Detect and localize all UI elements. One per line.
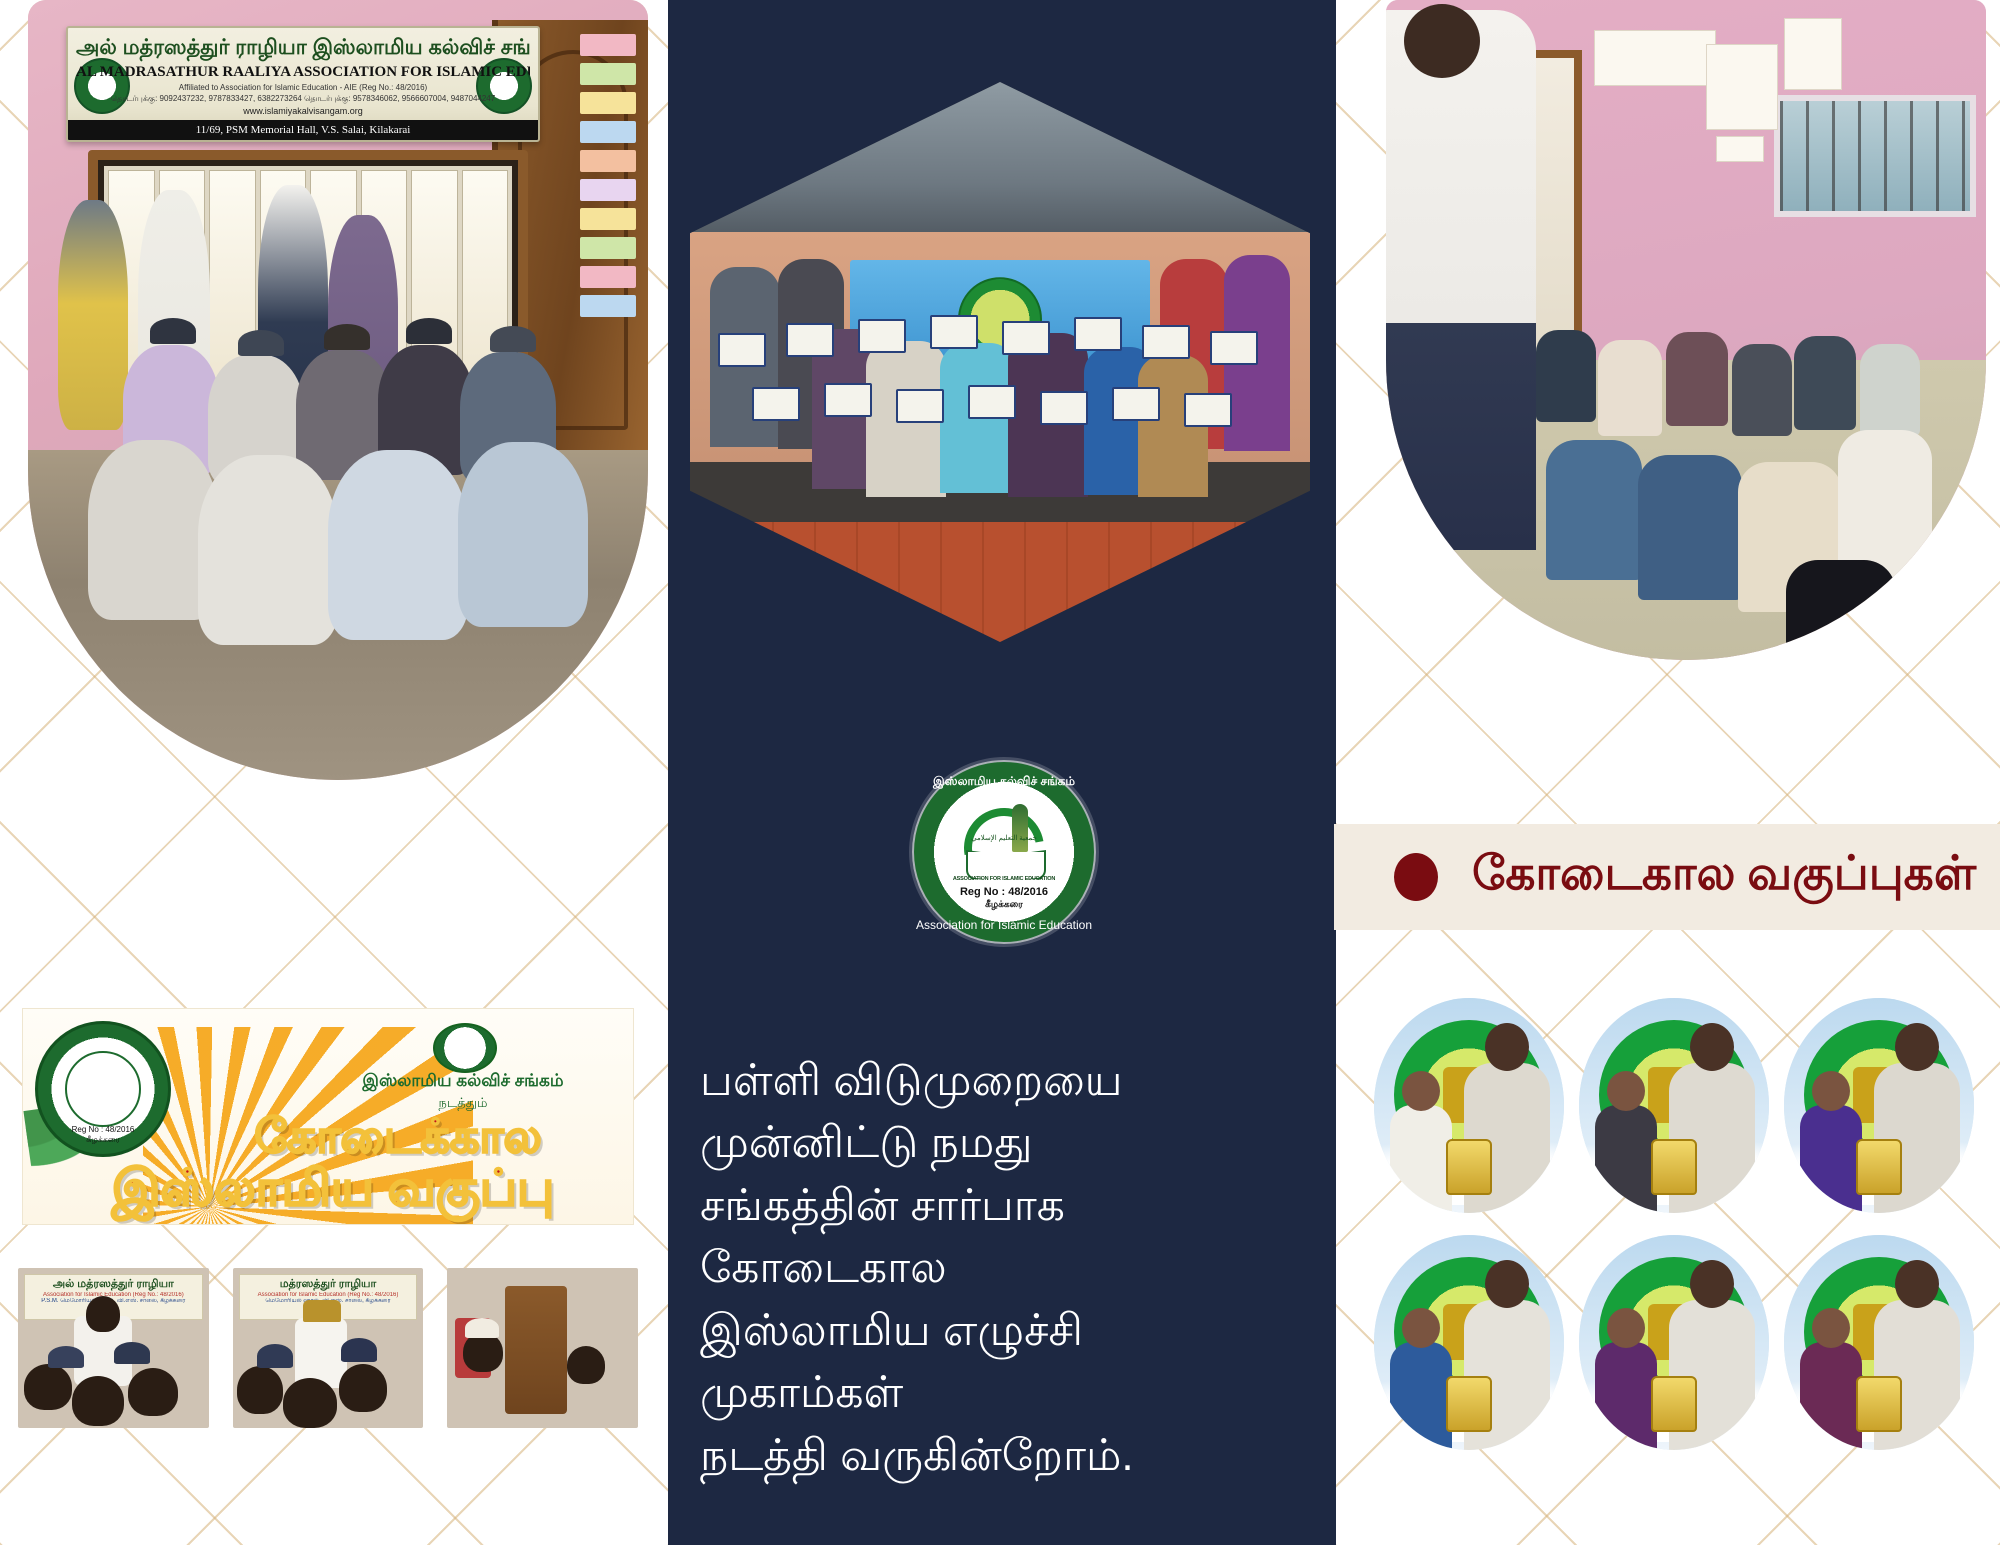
right-hero-photo xyxy=(1386,0,1986,660)
logo-reg-no: Reg No : 48/2016 xyxy=(950,886,1058,898)
logo-place: கீழக்கரை xyxy=(950,899,1058,911)
summer-classes-heading: கோடைகால வகுப்புகள் xyxy=(1334,824,2000,930)
paragraph-line: பள்ளி விடுமுறையை xyxy=(700,1050,1308,1112)
award-photo: அல் ம... ராழி xyxy=(1784,998,1974,1213)
thumb-banner-tamil: அல் மத்ரஸத்துர் ராழியா xyxy=(25,1278,202,1292)
thumbnail-photo xyxy=(447,1268,638,1428)
center-hero-photo xyxy=(690,82,1310,642)
award-plaque-icon xyxy=(1856,1376,1902,1432)
paragraph-line: நடத்தி வருகின்றோம். xyxy=(700,1425,1308,1487)
award-photo: ழிய xyxy=(1784,1235,1974,1450)
award-plaque-icon xyxy=(1856,1139,1902,1195)
banner-address: 11/69, PSM Memorial Hall, V.S. Salai, Ki… xyxy=(68,120,538,140)
logo-book-band: ASSOCIATION FOR ISLAMIC EDUCATION xyxy=(950,876,1058,882)
thumbnail-photo: மத்ரஸத்துர் ராழியா Association for Islam… xyxy=(233,1268,424,1428)
banner-english-title: AL MADRASATHUR RAALIYA ASSOCIATION FOR I… xyxy=(76,64,530,81)
association-logo: இஸ்லாமிய கல்விச் சங்கம் Association for … xyxy=(900,760,1105,940)
award-plaque-icon xyxy=(1446,1376,1492,1432)
award-photo: ம ... ழிய xyxy=(1579,1235,1769,1450)
award-photo: ல் ம... ரா xyxy=(1579,998,1769,1213)
logo-arabic: جمعية التعليم الإسلامي xyxy=(950,834,1058,842)
summer-classes-heading-text: கோடைகால வகுப்புகள் xyxy=(1472,847,1976,907)
logo-english-bottom: Association for Islamic Education xyxy=(914,918,1094,932)
wall-notices xyxy=(580,34,636,364)
classroom-window xyxy=(1774,95,1976,217)
wall-banner: அல் மத்ரஸத்துர் ராழியா இஸ்லாமிய கல்விச் … xyxy=(66,26,540,142)
center-paragraph: பள்ளி விடுமுறையை முன்னிட்டு நமது சங்கத்த… xyxy=(700,1050,1308,1487)
poster-reg-no: Reg No : 48/2016 xyxy=(38,1125,168,1134)
paragraph-line: இஸ்லாமிய எழுச்சி xyxy=(700,1300,1308,1362)
left-thumbnail-strip: அல் மத்ரஸத்துர் ராழியா Association for I… xyxy=(18,1268,638,1428)
thumb-banner-tamil: மத்ரஸத்துர் ராழியா xyxy=(240,1278,417,1292)
award-plaque-icon xyxy=(1446,1139,1492,1195)
award-photo-grid: மதுல்... ழிய ல் ம... ரா அல் ம... ராழி ழி… xyxy=(1374,998,1994,1468)
poster-logo: Reg No : 48/2016 கீழக்கரை xyxy=(35,1021,171,1157)
left-hero-photo: அல் மத்ரஸத்துர் ராழியா இஸ்லாமிய கல்விச் … xyxy=(28,0,648,780)
poster-assoc-line: இஸ்லாமிய கல்விச் சங்கம் xyxy=(323,1071,603,1093)
paragraph-line: சங்கத்தின் சார்பாக xyxy=(700,1175,1308,1237)
brochure-page: அல் மத்ரஸத்துர் ராழியா இஸ்லாமிய கல்விச் … xyxy=(0,0,2000,1545)
award-plaque-icon xyxy=(1651,1139,1697,1195)
banner-phones: தொடர்புக்கு: 9092437232, 9787833427, 638… xyxy=(76,94,530,104)
logo-tamil-top: இஸ்லாமிய கல்விச் சங்கம் xyxy=(914,774,1094,790)
poster-line-2: இஸ்லாமிய வகுப்பு xyxy=(33,1159,633,1224)
bullet-dot-icon xyxy=(1394,853,1438,901)
minaret-icon xyxy=(1012,804,1028,852)
paragraph-line: கோடைகால xyxy=(700,1237,1308,1299)
award-photo: ழிய xyxy=(1374,1235,1564,1450)
student-group xyxy=(690,237,1310,537)
banner-website: www.islamiyakalvisangam.org xyxy=(76,106,530,116)
banner-tamil-title: அல் மத்ரஸத்துர் ராழியா இஸ்லாமிய கல்விச் … xyxy=(76,36,530,62)
banner-affiliation: Affiliated to Association for Islamic Ed… xyxy=(76,83,530,92)
thumbnail-photo: அல் மத்ரஸத்துர் ராழியா Association for I… xyxy=(18,1268,209,1428)
paragraph-line: முன்னிட்டு நமது xyxy=(700,1112,1308,1174)
summer-class-poster: Reg No : 48/2016 கீழக்கரை இஸ்லாமிய கல்வி… xyxy=(22,1008,634,1225)
standing-teacher xyxy=(1386,10,1536,550)
poster-place: கீழக்கரை xyxy=(38,1135,168,1145)
paragraph-line: முகாம்கள் xyxy=(700,1362,1308,1424)
award-plaque-icon xyxy=(1651,1376,1697,1432)
poster-emblem-icon xyxy=(433,1023,497,1073)
award-photo: மதுல்... ழிய xyxy=(1374,998,1564,1213)
